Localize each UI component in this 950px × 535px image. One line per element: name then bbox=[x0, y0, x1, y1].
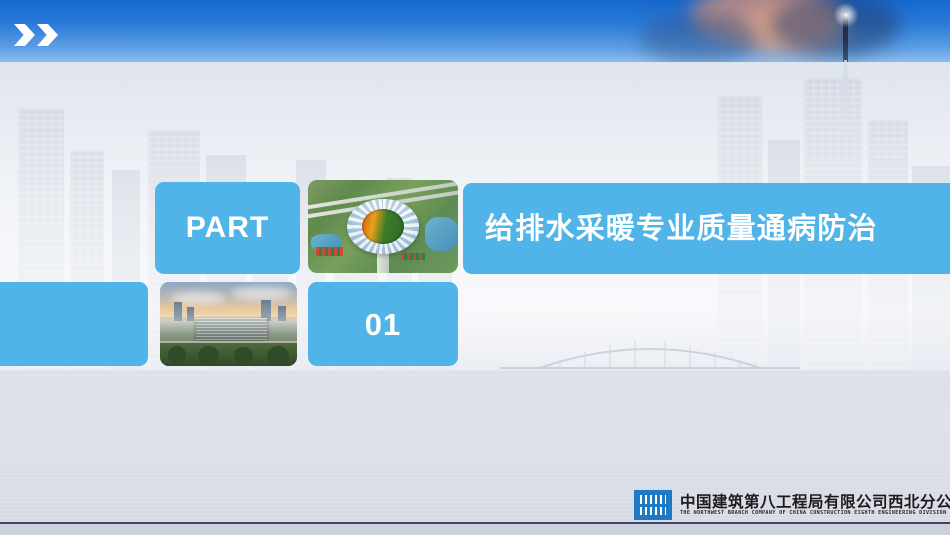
photo-skyline-tower bbox=[187, 307, 194, 320]
section-title: 给排水采暖专业质量通病防治 bbox=[463, 214, 878, 243]
section-title-card: 给排水采暖专业质量通病防治 bbox=[463, 183, 950, 274]
photo-tree bbox=[168, 346, 186, 363]
sun-flare-icon bbox=[833, 2, 859, 28]
company-name-cn: 中国建筑第八工程局有限公司西北分公司 bbox=[680, 494, 950, 510]
company-branding: 中国建筑第八工程局有限公司西北分公司 THE NORTHWEST BRANCH … bbox=[634, 490, 950, 520]
section-number-card: 01 bbox=[308, 282, 458, 366]
city-building-photo bbox=[160, 282, 297, 366]
section-number: 01 bbox=[365, 309, 401, 340]
photo-courts bbox=[316, 247, 343, 256]
part-label-card: PART bbox=[155, 182, 300, 274]
cloud-dark bbox=[640, 12, 760, 62]
company-name-en: THE NORTHWEST BRANCH COMPANY OF CHINA CO… bbox=[680, 511, 950, 516]
bridge-silhouette bbox=[500, 330, 800, 374]
photo-tree bbox=[267, 346, 289, 365]
double-chevron-right-icon bbox=[37, 24, 58, 46]
footer-bar bbox=[0, 522, 950, 535]
photo-skyline-tower bbox=[278, 306, 286, 321]
photo-courts bbox=[401, 253, 425, 260]
photo-tree bbox=[234, 347, 253, 363]
company-name-block: 中国建筑第八工程局有限公司西北分公司 THE NORTHWEST BRANCH … bbox=[680, 494, 950, 516]
double-chevron-right-icon bbox=[14, 24, 35, 46]
city-photo-image bbox=[160, 282, 297, 366]
photo-tree bbox=[198, 346, 219, 364]
stadium-aerial-photo bbox=[308, 180, 458, 273]
photo-main-building bbox=[196, 318, 267, 340]
cscec-logo-icon bbox=[634, 490, 672, 520]
photo-skyline-tower bbox=[174, 302, 182, 320]
header-photo-band bbox=[0, 0, 950, 62]
accent-block-left bbox=[0, 282, 148, 366]
chevron-badge bbox=[14, 24, 58, 46]
cscec-logo-mark bbox=[640, 495, 666, 515]
stadium-photo-image bbox=[308, 180, 458, 273]
presentation-slide: PART bbox=[0, 0, 950, 535]
photo-water bbox=[425, 217, 458, 250]
part-label: PART bbox=[186, 213, 269, 243]
stadium-bowl bbox=[362, 209, 404, 244]
